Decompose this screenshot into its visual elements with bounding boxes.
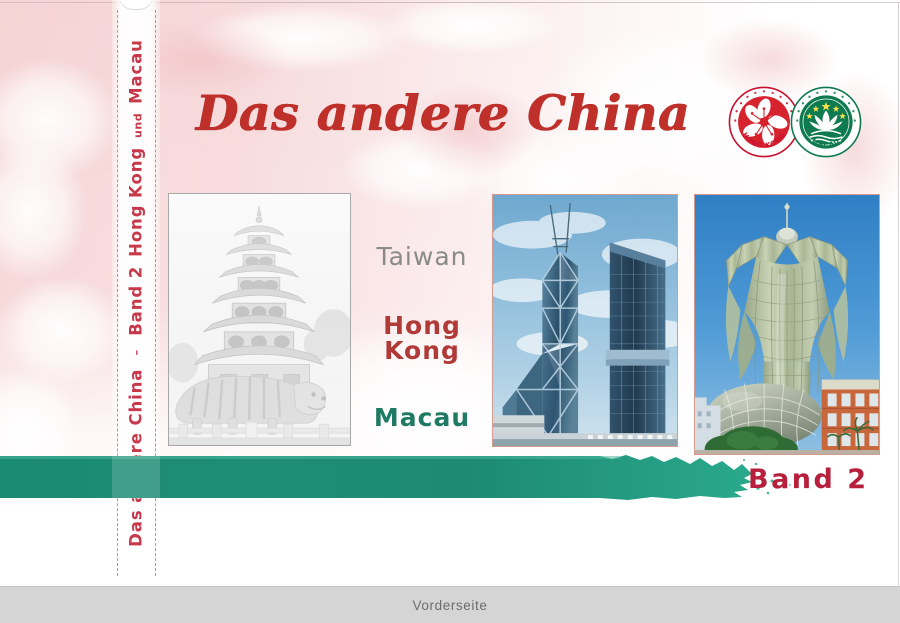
photo-hong-kong-skyline <box>492 194 678 447</box>
cover-title: Das andere China <box>196 84 716 146</box>
photo-macau-grand-lisboa <box>694 194 880 455</box>
region-label-taiwan: Taiwan <box>352 244 492 269</box>
spine-region-a: Hong Kong <box>127 147 146 257</box>
spine-conjunction: und <box>132 113 145 138</box>
spine-region-b: Macau <box>127 39 146 104</box>
status-bar-label: Vorderseite <box>413 598 488 613</box>
region-label-hongkong: Hong Kong <box>352 313 492 363</box>
photo-taiwan-pagoda <box>168 193 351 446</box>
macau-emblem-icon: MACAU <box>790 86 862 158</box>
spine-dash: - <box>127 345 146 360</box>
region-label-list: Taiwan Hong Kong Macau <box>352 244 492 430</box>
book-cover-canvas: Das andere China - Band 2 Hong Kong und … <box>0 0 900 586</box>
region-label-macau: Macau <box>352 405 492 430</box>
spine-volume: Band 2 <box>127 266 146 336</box>
volume-label: Band 2 <box>748 464 869 495</box>
status-bar: Vorderseite <box>0 586 900 623</box>
emblem-group: HONG KONG <box>728 86 878 162</box>
